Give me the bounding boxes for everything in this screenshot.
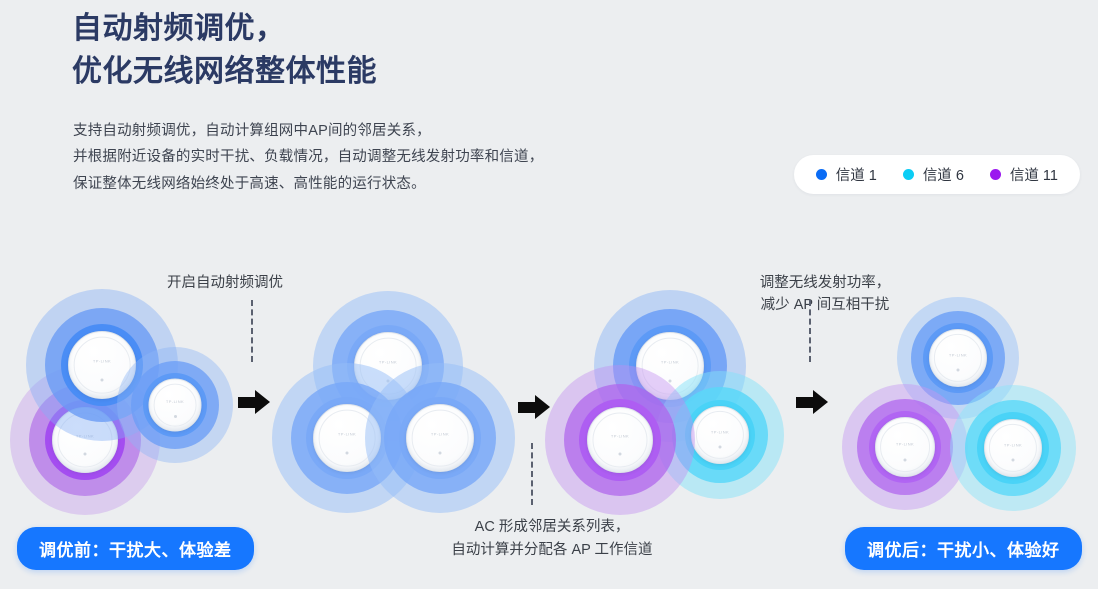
ap-device-icon: TP-LINK — [875, 417, 935, 477]
legend-dot-icon — [816, 169, 827, 180]
caption-step-1: 开启自动射频调优 — [135, 272, 315, 294]
legend-label: 信道 6 — [923, 164, 964, 185]
legend-item-channel-1: 信道 1 — [816, 164, 877, 185]
page-description: 支持自动射频调优，自动计算组网中AP间的邻居关系， 并根据附近设备的实时干扰、负… — [73, 118, 543, 197]
separator-1 — [232, 300, 272, 430]
ap-brand-mark: TP-LINK — [338, 432, 356, 437]
ap-brand-mark: TP-LINK — [896, 441, 914, 446]
separator-3 — [790, 300, 830, 430]
ap-led-icon — [439, 451, 442, 454]
ap-brand-mark: TP-LINK — [611, 434, 629, 439]
channel-legend: 信道 1 信道 6 信道 11 — [794, 155, 1080, 194]
legend-item-channel-11: 信道 11 — [990, 164, 1058, 185]
ap-brand-mark: TP-LINK — [93, 359, 111, 364]
ap-led-icon — [957, 369, 960, 372]
ap-brand-mark: TP-LINK — [431, 432, 449, 437]
legend-dot-icon — [903, 169, 914, 180]
ap-device-icon: TP-LINK — [406, 404, 474, 472]
dashed-connector-icon — [251, 300, 253, 362]
ap-led-icon — [669, 379, 672, 382]
ap-led-icon — [904, 458, 907, 461]
status-badge-before: 调优前：干扰大、体验差 — [17, 527, 254, 570]
ap-device-icon: TP-LINK — [149, 379, 202, 432]
ap-brand-mark: TP-LINK — [711, 429, 729, 434]
ap-device-icon: TP-LINK — [691, 406, 749, 464]
ap-brand-mark: TP-LINK — [166, 399, 184, 404]
ap-brand-mark: TP-LINK — [949, 352, 967, 357]
ap-led-icon — [101, 378, 104, 381]
legend-item-channel-6: 信道 6 — [903, 164, 964, 185]
ap-brand-mark: TP-LINK — [379, 360, 397, 365]
caption-step-2: AC 形成邻居关系列表， 自动计算并分配各 AP 工作信道 — [412, 516, 692, 562]
ap-brand-mark: TP-LINK — [1004, 442, 1022, 447]
infographic-canvas: 自动射频调优， 优化无线网络整体性能 支持自动射频调优，自动计算组网中AP间的邻… — [0, 0, 1098, 589]
status-badge-after: 调优后：干扰小、体验好 — [845, 527, 1082, 570]
dashed-connector-icon — [531, 443, 533, 505]
ap-led-icon — [619, 453, 622, 456]
ap-led-icon — [1012, 459, 1015, 462]
separator-2 — [512, 395, 552, 525]
ap-brand-mark: TP-LINK — [661, 360, 679, 365]
ap-led-icon — [84, 453, 87, 456]
ap-device-icon: TP-LINK — [984, 419, 1042, 477]
ap-led-icon — [719, 446, 722, 449]
legend-label: 信道 1 — [836, 164, 877, 185]
legend-dot-icon — [990, 169, 1001, 180]
dashed-connector-icon — [809, 300, 811, 362]
ap-led-icon — [174, 415, 177, 418]
ap-led-icon — [346, 451, 349, 454]
page-title: 自动射频调优， 优化无线网络整体性能 — [72, 8, 377, 93]
ap-device-icon: TP-LINK — [587, 407, 653, 473]
ap-device-icon: TP-LINK — [929, 329, 987, 387]
legend-label: 信道 11 — [1010, 164, 1058, 185]
